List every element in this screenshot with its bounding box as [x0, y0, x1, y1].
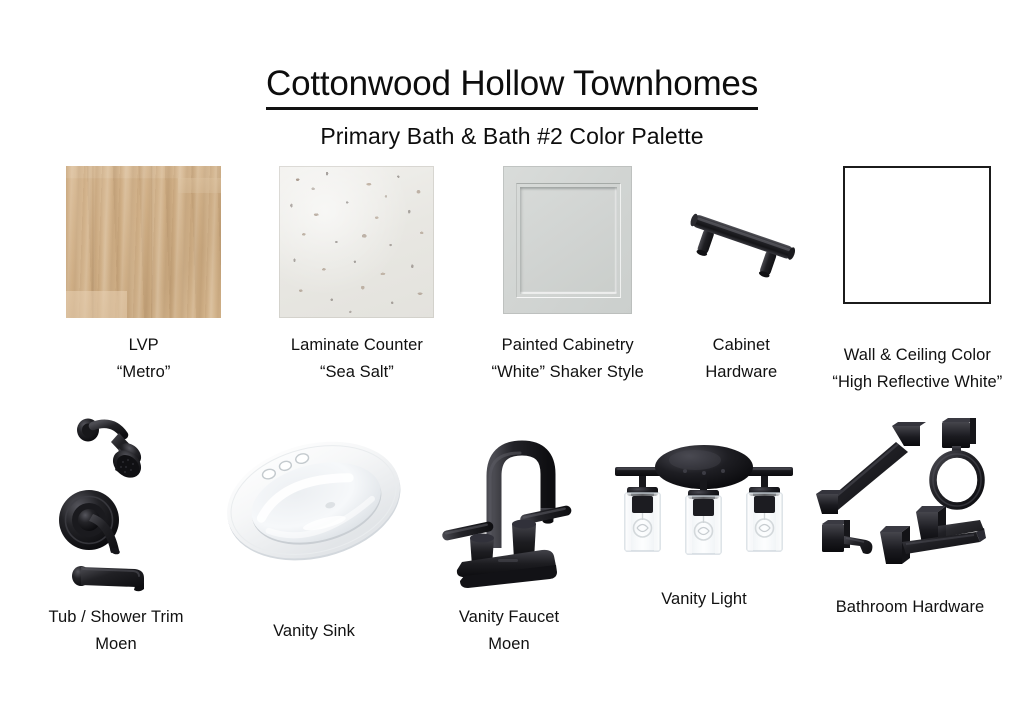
- paint-art: [843, 166, 991, 318]
- faucet-art: [424, 404, 594, 600]
- paint-label-line1: Wall & Ceiling Color: [844, 346, 991, 364]
- oval-drop-in-sink-icon: [219, 435, 409, 570]
- trim-art: [31, 404, 201, 600]
- header: Cottonwood Hollow Townhomes Primary Bath…: [0, 64, 1024, 150]
- palette-board: Cottonwood Hollow Townhomes Primary Bath…: [0, 0, 1024, 712]
- hardware-caption: Cabinet Hardware: [705, 332, 777, 385]
- centerset-faucet-icon: [424, 420, 594, 600]
- faucet-label-line2: Moen: [459, 631, 559, 658]
- item-wall-ceiling-color: Wall & Ceiling Color “High Reflective Wh…: [811, 166, 1024, 395]
- light-caption: Vanity Light: [661, 586, 747, 613]
- sink-label-line1: Vanity Sink: [273, 622, 355, 640]
- shaker-cabinet-door-icon: [503, 166, 632, 314]
- materials-row-2: Tub / Shower Trim Moen: [0, 404, 1024, 657]
- item-cabinet-hardware: Cabinet Hardware: [672, 166, 811, 385]
- hardware-label-line2: Hardware: [705, 359, 777, 386]
- wood-plank-swatch-icon: [66, 166, 221, 318]
- faucet-caption: Vanity Faucet Moen: [459, 604, 559, 657]
- laminate-label-line2: “Sea Salt”: [291, 359, 423, 386]
- light-label-line1: Vanity Light: [661, 590, 747, 608]
- item-laminate-counter: Laminate Counter “Sea Salt”: [250, 166, 463, 385]
- white-paint-chip-icon: [843, 166, 991, 304]
- trim-caption: Tub / Shower Trim Moen: [48, 604, 183, 657]
- faucet-label-line1: Vanity Faucet: [459, 608, 559, 626]
- sink-art: [219, 404, 409, 600]
- shower-head-valve-spout-icon: [31, 404, 201, 600]
- bath-hardware-art: [808, 404, 1013, 600]
- laminate-label-line1: Laminate Counter: [291, 336, 423, 354]
- pull-art: [676, 166, 806, 318]
- laminate-art: [279, 166, 434, 318]
- bath-hardware-label-line1: Bathroom Hardware: [836, 598, 985, 616]
- light-art: [609, 404, 799, 600]
- hardware-label-line1: Cabinet: [713, 336, 770, 354]
- speckled-stone-swatch-icon: [279, 166, 434, 318]
- materials-row-1: LVP “Metro” Laminate Counter “Sea Salt” …: [0, 166, 1024, 395]
- item-lvp: LVP “Metro”: [37, 166, 250, 385]
- item-tub-shower-trim: Tub / Shower Trim Moen: [18, 404, 214, 657]
- cabinetry-caption: Painted Cabinetry “White” Shaker Style: [492, 332, 644, 385]
- page-subtitle: Primary Bath & Bath #2 Color Palette: [0, 123, 1024, 150]
- cabinetry-label-line2: “White” Shaker Style: [492, 359, 644, 386]
- lvp-label-line2: “Metro”: [117, 359, 171, 386]
- cabinetry-label-line1: Painted Cabinetry: [502, 336, 634, 354]
- sink-caption: Vanity Sink: [273, 618, 355, 645]
- lvp-caption: LVP “Metro”: [117, 332, 171, 385]
- bar-pull-icon: [676, 182, 806, 302]
- item-bathroom-hardware: Bathroom Hardware: [804, 404, 1016, 621]
- lvp-art: [66, 166, 221, 318]
- towel-bar-ring-hook-tp-holder-icon: [808, 404, 1013, 589]
- item-painted-cabinetry: Painted Cabinetry “White” Shaker Style: [464, 166, 672, 385]
- item-vanity-faucet: Vanity Faucet Moen: [414, 404, 604, 657]
- trim-label-line1: Tub / Shower Trim: [48, 608, 183, 626]
- three-light-vanity-fixture-icon: [609, 437, 799, 567]
- item-vanity-light: Vanity Light: [604, 404, 804, 613]
- cabinet-recessed-panel: [520, 187, 617, 294]
- paint-label-line2: “High Reflective White”: [832, 369, 1002, 396]
- cabinet-art: [503, 166, 632, 318]
- page-title: Cottonwood Hollow Townhomes: [266, 64, 758, 110]
- bath-hardware-caption: Bathroom Hardware: [836, 594, 985, 621]
- item-vanity-sink: Vanity Sink: [214, 404, 414, 645]
- paint-caption: Wall & Ceiling Color “High Reflective Wh…: [832, 342, 1002, 395]
- laminate-caption: Laminate Counter “Sea Salt”: [291, 332, 423, 385]
- lvp-label-line1: LVP: [129, 336, 159, 354]
- trim-label-line2: Moen: [48, 631, 183, 658]
